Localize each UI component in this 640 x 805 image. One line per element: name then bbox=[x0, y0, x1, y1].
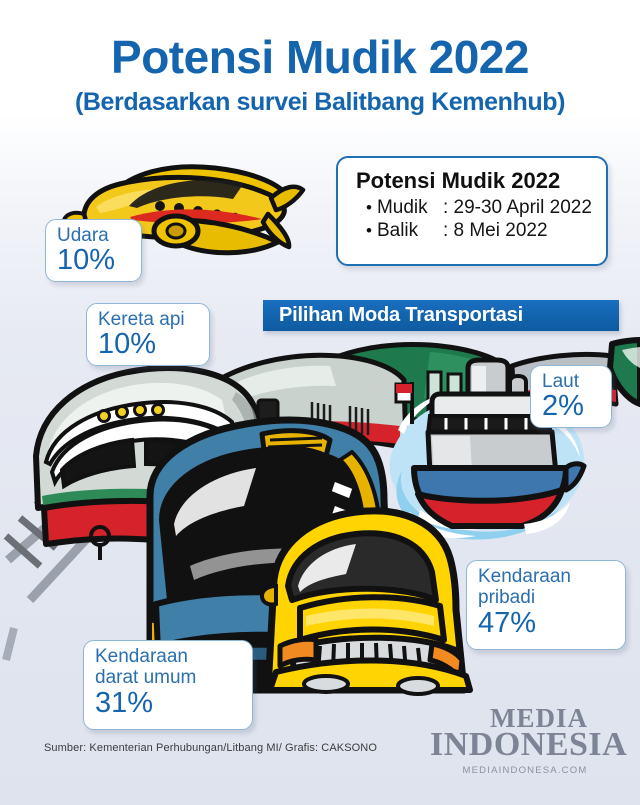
info-card: Potensi Mudik 2022 • Mudik : 29-30 April… bbox=[336, 156, 608, 266]
source-credit: Sumber: Kementerian Perhubungan/Litbang … bbox=[44, 742, 377, 754]
callout-kendaraan-darat-umum: Kendaraan darat umum 31% bbox=[83, 640, 253, 730]
info-row-mudik-value: : 29-30 April 2022 bbox=[443, 197, 592, 219]
callout-kendaraan-pribadi: Kendaraan pribadi 47% bbox=[466, 560, 626, 650]
callout-laut-label: Laut bbox=[542, 371, 601, 392]
car-icon bbox=[262, 511, 470, 694]
media-indonesia-logo: MEDIA INDONESIA MEDIAINDONESA.COM bbox=[430, 705, 620, 776]
logo-line-indonesia: INDONESIA bbox=[430, 728, 620, 762]
callout-kendaraan-darat-umum-label-2: darat umum bbox=[95, 667, 242, 688]
bullet-icon: • bbox=[366, 222, 372, 239]
title-block: Potensi Mudik 2022 (Berdasarkan survei B… bbox=[0, 34, 640, 115]
page-subtitle: (Berdasarkan survei Balitbang Kemenhub) bbox=[0, 90, 640, 115]
callout-udara: Udara 10% bbox=[45, 219, 142, 282]
info-row-balik-key: Balik bbox=[377, 220, 443, 242]
info-card-title: Potensi Mudik 2022 bbox=[356, 168, 606, 194]
callout-kendaraan-pribadi-value: 47% bbox=[478, 608, 615, 638]
callout-laut-value: 2% bbox=[542, 391, 601, 421]
page-title: Potensi Mudik 2022 bbox=[0, 34, 640, 80]
transport-mode-banner: Pilihan Moda Transportasi bbox=[263, 300, 619, 331]
info-row-mudik: • Mudik : 29-30 April 2022 bbox=[366, 197, 606, 219]
callout-udara-value: 10% bbox=[57, 245, 131, 275]
callout-kereta-api-label: Kereta api bbox=[98, 309, 199, 330]
transport-mode-banner-label: Pilihan Moda Transportasi bbox=[263, 300, 619, 331]
info-row-balik: • Balik : 8 Mei 2022 bbox=[366, 220, 606, 242]
callout-kendaraan-pribadi-label-1: Kendaraan bbox=[478, 566, 615, 587]
bullet-icon: • bbox=[366, 199, 372, 216]
callout-kereta-api-value: 10% bbox=[98, 329, 199, 359]
logo-website-url: MEDIAINDONESA.COM bbox=[430, 765, 620, 776]
callout-laut: Laut 2% bbox=[530, 365, 612, 428]
infographic-root: Potensi Mudik 2022 (Berdasarkan survei B… bbox=[0, 0, 640, 805]
callout-udara-label: Udara bbox=[57, 225, 131, 246]
callout-kendaraan-darat-umum-value: 31% bbox=[95, 688, 242, 718]
callout-kendaraan-pribadi-label-2: pribadi bbox=[478, 587, 615, 608]
info-row-balik-value: : 8 Mei 2022 bbox=[443, 220, 548, 242]
callout-kereta-api: Kereta api 10% bbox=[86, 303, 210, 366]
info-row-mudik-key: Mudik bbox=[377, 197, 443, 219]
callout-kendaraan-darat-umum-label-1: Kendaraan bbox=[95, 646, 242, 667]
